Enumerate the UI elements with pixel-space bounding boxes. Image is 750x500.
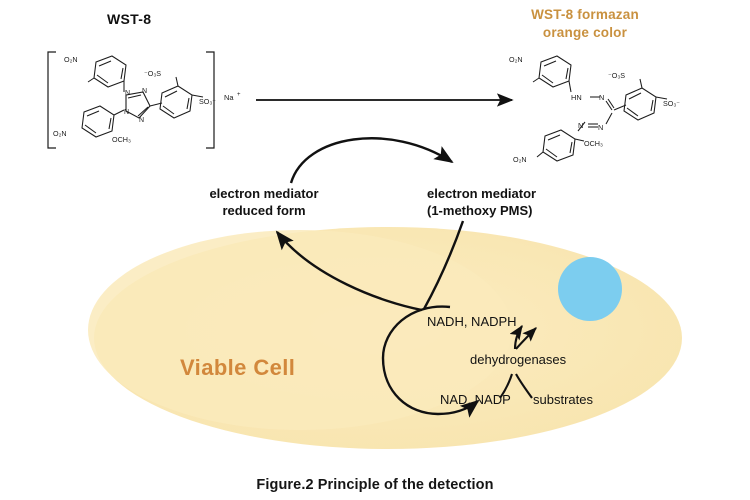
- substrates-label: substrates: [533, 392, 593, 408]
- reactant-title: WST-8: [107, 11, 151, 29]
- product-title-line2: orange color: [520, 24, 650, 42]
- svg-text:HN: HN: [571, 93, 582, 102]
- svg-text:OCH₃: OCH₃: [584, 139, 603, 148]
- svg-text:N: N: [139, 117, 144, 124]
- cell-nucleus: [558, 257, 622, 321]
- figure-canvas: O₂N O₂N OCH₃ ⁻O₃S SO₃⁻ N N N N Na +: [0, 0, 750, 500]
- mediator-oxidized-line2: (1-methoxy PMS): [427, 203, 569, 220]
- product-title-line1: WST-8 formazan: [520, 6, 650, 24]
- figure-caption: Figure.2 Principle of the detection: [0, 476, 750, 494]
- svg-text:N: N: [599, 93, 604, 102]
- wst8-structure: [48, 52, 214, 148]
- svg-text:O₂N: O₂N: [509, 55, 523, 64]
- mediator-cycle-top-arc: [291, 138, 452, 183]
- svg-text:O₂N: O₂N: [53, 129, 67, 138]
- mediator-reduced-label: electron mediator reduced form: [196, 186, 332, 220]
- mediator-oxidized-label: electron mediator (1-methoxy PMS): [427, 186, 569, 220]
- svg-text:N: N: [598, 123, 603, 132]
- nadh-label: NADH, NADPH: [427, 314, 517, 330]
- svg-text:SO₃⁻: SO₃⁻: [199, 97, 216, 106]
- svg-text:Na: Na: [224, 93, 234, 102]
- svg-text:SO₃⁻: SO₃⁻: [663, 99, 680, 108]
- svg-text:N: N: [124, 109, 129, 116]
- svg-text:N: N: [125, 90, 130, 97]
- svg-text:⁻O₃S: ⁻O₃S: [144, 69, 161, 78]
- svg-text:+: +: [237, 92, 241, 98]
- mediator-reduced-line1: electron mediator: [196, 186, 332, 203]
- mediator-oxidized-line1: electron mediator: [427, 186, 569, 203]
- svg-text:⁻O₃S: ⁻O₃S: [608, 71, 625, 80]
- product-title: WST-8 formazan orange color: [520, 6, 650, 42]
- svg-text:N: N: [578, 121, 583, 130]
- viable-cell-label: Viable Cell: [180, 354, 295, 382]
- dehydrogenases-label: dehydrogenases: [470, 352, 566, 368]
- mediator-reduced-line2: reduced form: [196, 203, 332, 220]
- nad-label: NAD, NADP: [440, 392, 511, 408]
- svg-text:O₂N: O₂N: [64, 55, 78, 64]
- svg-text:OCH₃: OCH₃: [112, 135, 131, 144]
- svg-text:O₂N: O₂N: [513, 155, 527, 164]
- svg-text:N: N: [142, 88, 147, 95]
- diagram-svg: O₂N O₂N OCH₃ ⁻O₃S SO₃⁻ N N N N Na +: [0, 0, 750, 500]
